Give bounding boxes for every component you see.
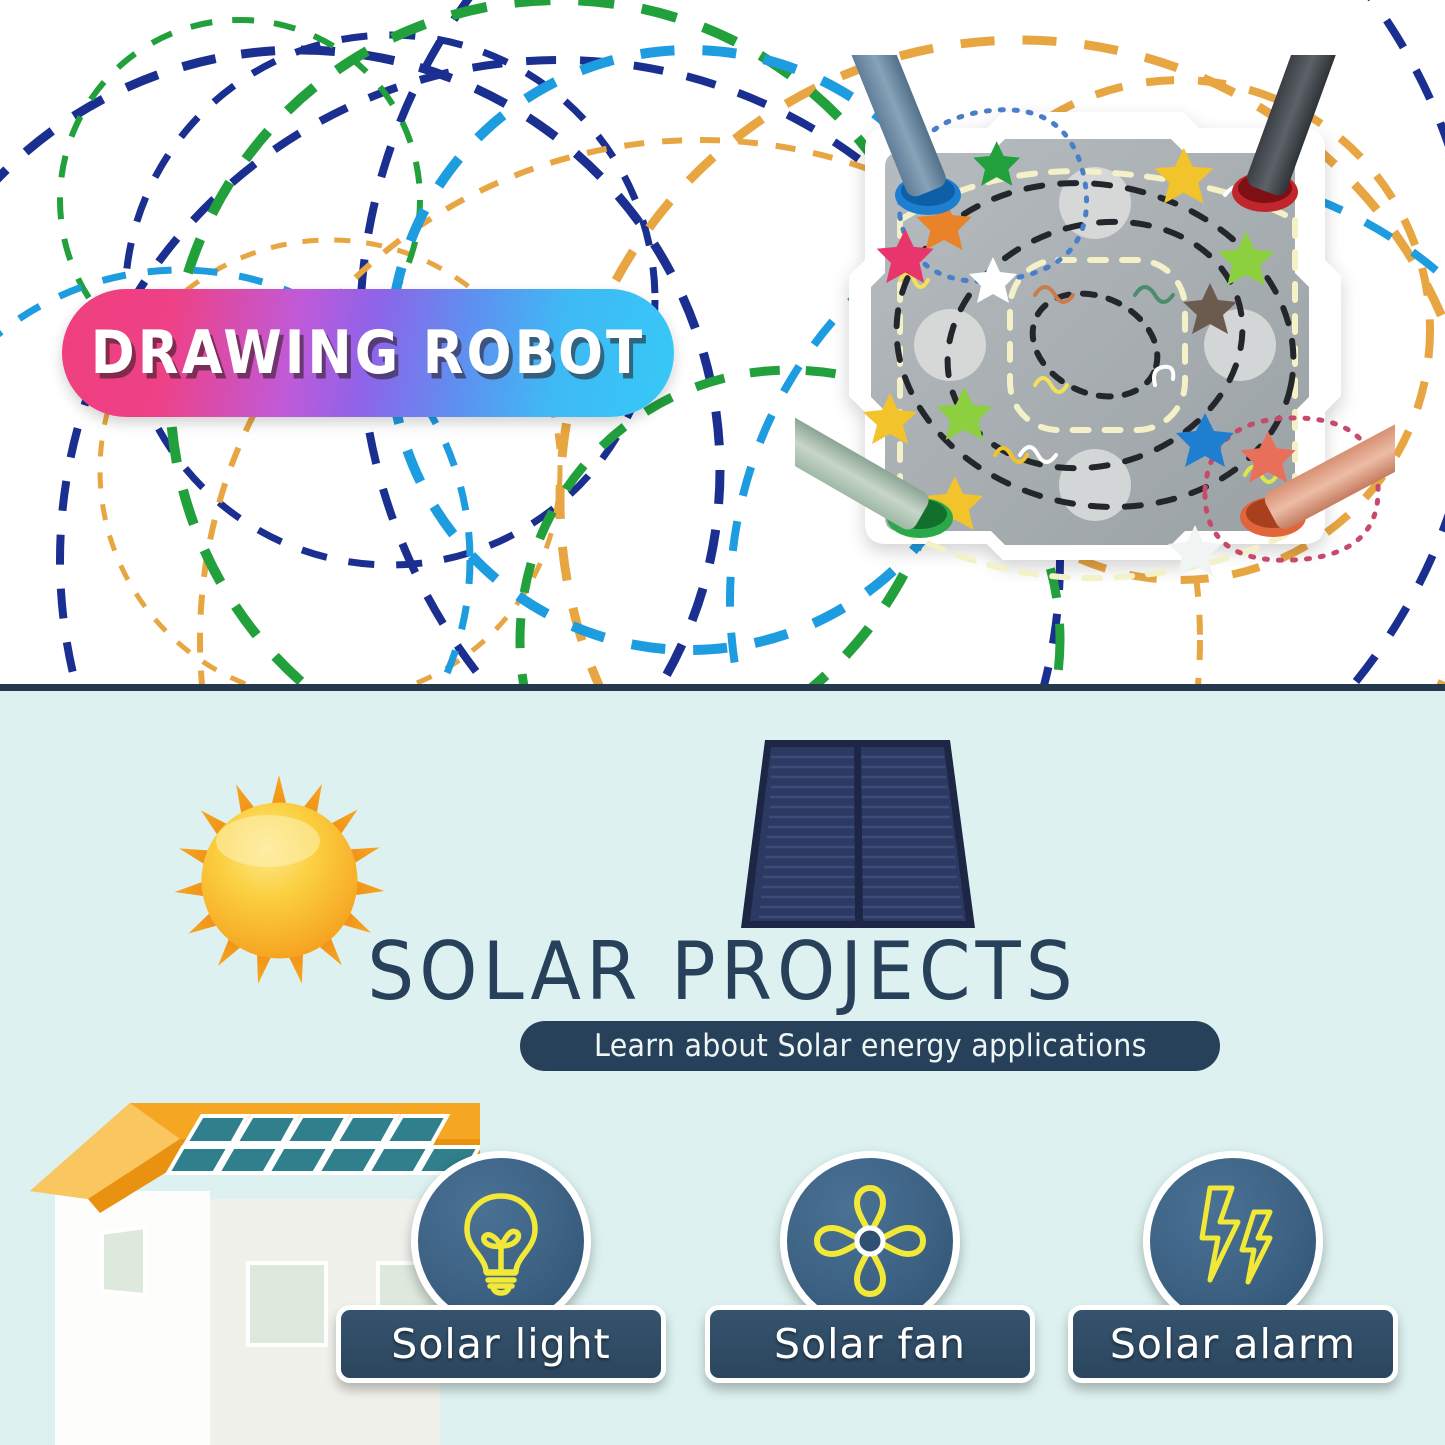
solar-fan-circle[interactable] [780,1151,960,1331]
page-title: SOLAR PROJECTS [0,926,1445,1019]
section-divider [0,684,1445,691]
solar-alarm-circle[interactable] [1143,1151,1323,1331]
product-infographic: DRAWING ROBOT [0,0,1445,1445]
solar-light-label: Solar light [391,1320,610,1368]
solar-panel-image [735,736,980,932]
lightbulb-icon [446,1186,556,1296]
solar-alarm-label: Solar alarm [1110,1320,1356,1368]
drawing-robot-banner: DRAWING ROBOT [62,289,674,417]
fan-icon [811,1182,929,1300]
drawing-robot-image [795,55,1395,655]
house-with-solar-panels [10,1081,480,1445]
solar-alarm-label-box: Solar alarm [1068,1305,1398,1383]
subtitle-pill: Learn about Solar energy applications [520,1021,1220,1071]
solar-light-circle[interactable] [411,1151,591,1331]
drawing-robot-title: DRAWING ROBOT [91,319,645,387]
solar-fan-label: Solar fan [774,1320,966,1368]
solar-projects-section: SOLAR PROJECTS Learn about Solar energy … [0,691,1445,1445]
lightning-bolt-icon [1174,1182,1292,1300]
solar-fan-label-box: Solar fan [705,1305,1035,1383]
drawing-robot-section: DRAWING ROBOT [0,0,1445,686]
solar-light-label-box: Solar light [336,1305,666,1383]
page-subtitle: Learn about Solar energy applications [594,1028,1147,1064]
